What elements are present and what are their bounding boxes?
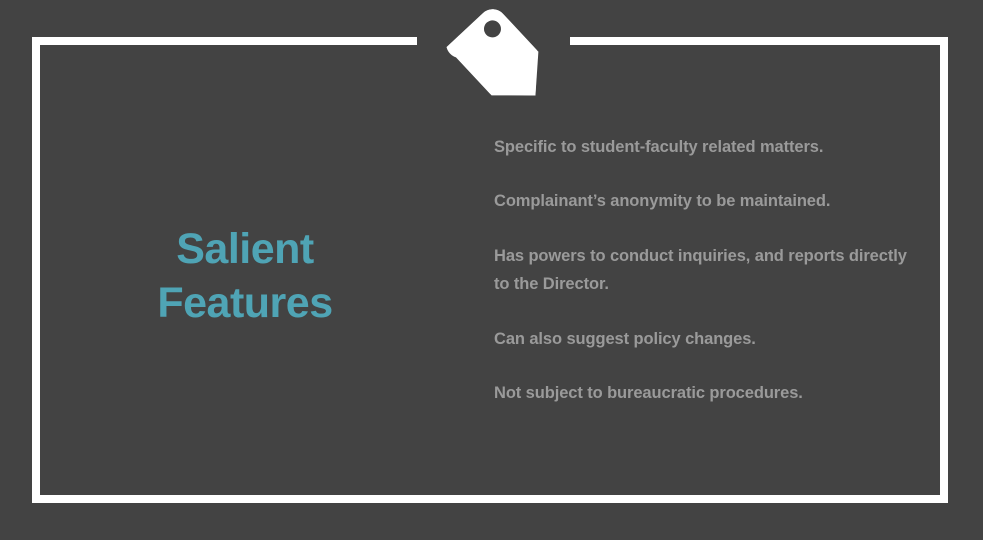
list-item: Not subject to bureaucratic procedures. (494, 379, 924, 407)
page-title: Salient Features (40, 222, 450, 330)
list-item: Can also suggest policy changes. (494, 325, 924, 353)
frame-top-right-bar (570, 37, 948, 45)
frame-top-left-bar (32, 37, 417, 45)
frame-right-bar (940, 37, 948, 503)
frame-left-bar (32, 37, 40, 503)
list-item: Specific to student-faculty related matt… (494, 133, 924, 161)
title-block: Salient Features (40, 222, 450, 330)
feature-list: Specific to student-faculty related matt… (494, 133, 924, 407)
frame-bottom-bar (32, 495, 948, 503)
slide-canvas: Salient Features Specific to student-fac… (0, 0, 983, 540)
tag-icon (443, 3, 547, 113)
list-item: Has powers to conduct inquiries, and rep… (494, 242, 924, 299)
list-item: Complainant’s anonymity to be maintained… (494, 187, 924, 215)
